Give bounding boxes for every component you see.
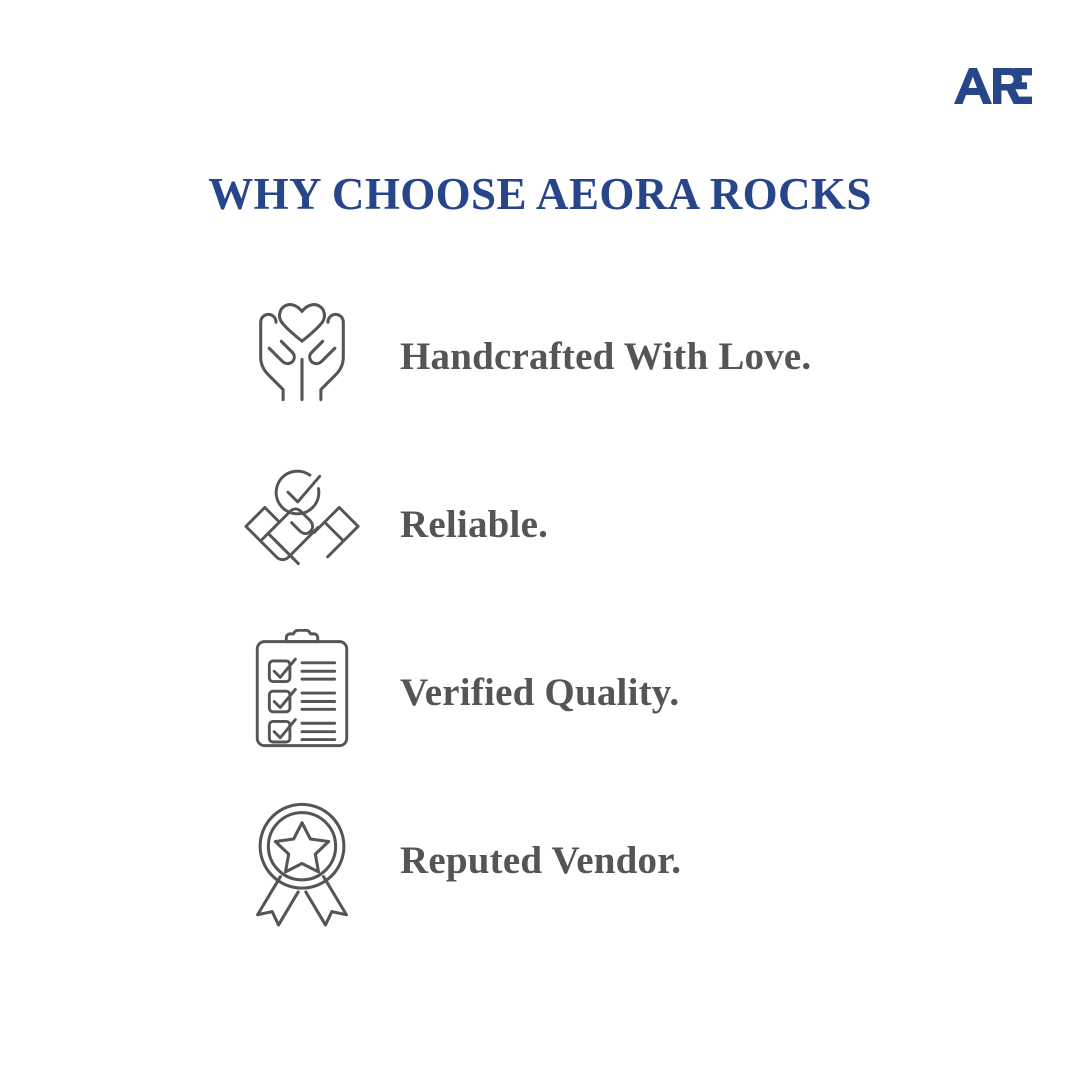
hands-holding-heart-icon [236, 280, 368, 420]
list-item: Handcrafted With Love. [236, 272, 956, 440]
clipboard-checklist-icon [236, 620, 368, 760]
award-ribbon-star-icon [236, 794, 368, 934]
list-item-label: Reliable. [400, 502, 548, 547]
list-item: Reliable. [236, 440, 956, 608]
list-item-label: Handcrafted With Love. [400, 334, 811, 379]
list-item: Verified Quality. [236, 608, 956, 776]
list-item: Reputed Vendor. [236, 776, 956, 944]
are-wordmark-logo [952, 62, 1032, 108]
feature-list: Handcrafted With Love. [236, 272, 956, 944]
handshake-check-icon [236, 446, 368, 586]
list-item-label: Reputed Vendor. [400, 838, 681, 883]
list-item-label: Verified Quality. [400, 670, 679, 715]
page-title: WHY CHOOSE AEORA ROCKS [0, 168, 1080, 220]
